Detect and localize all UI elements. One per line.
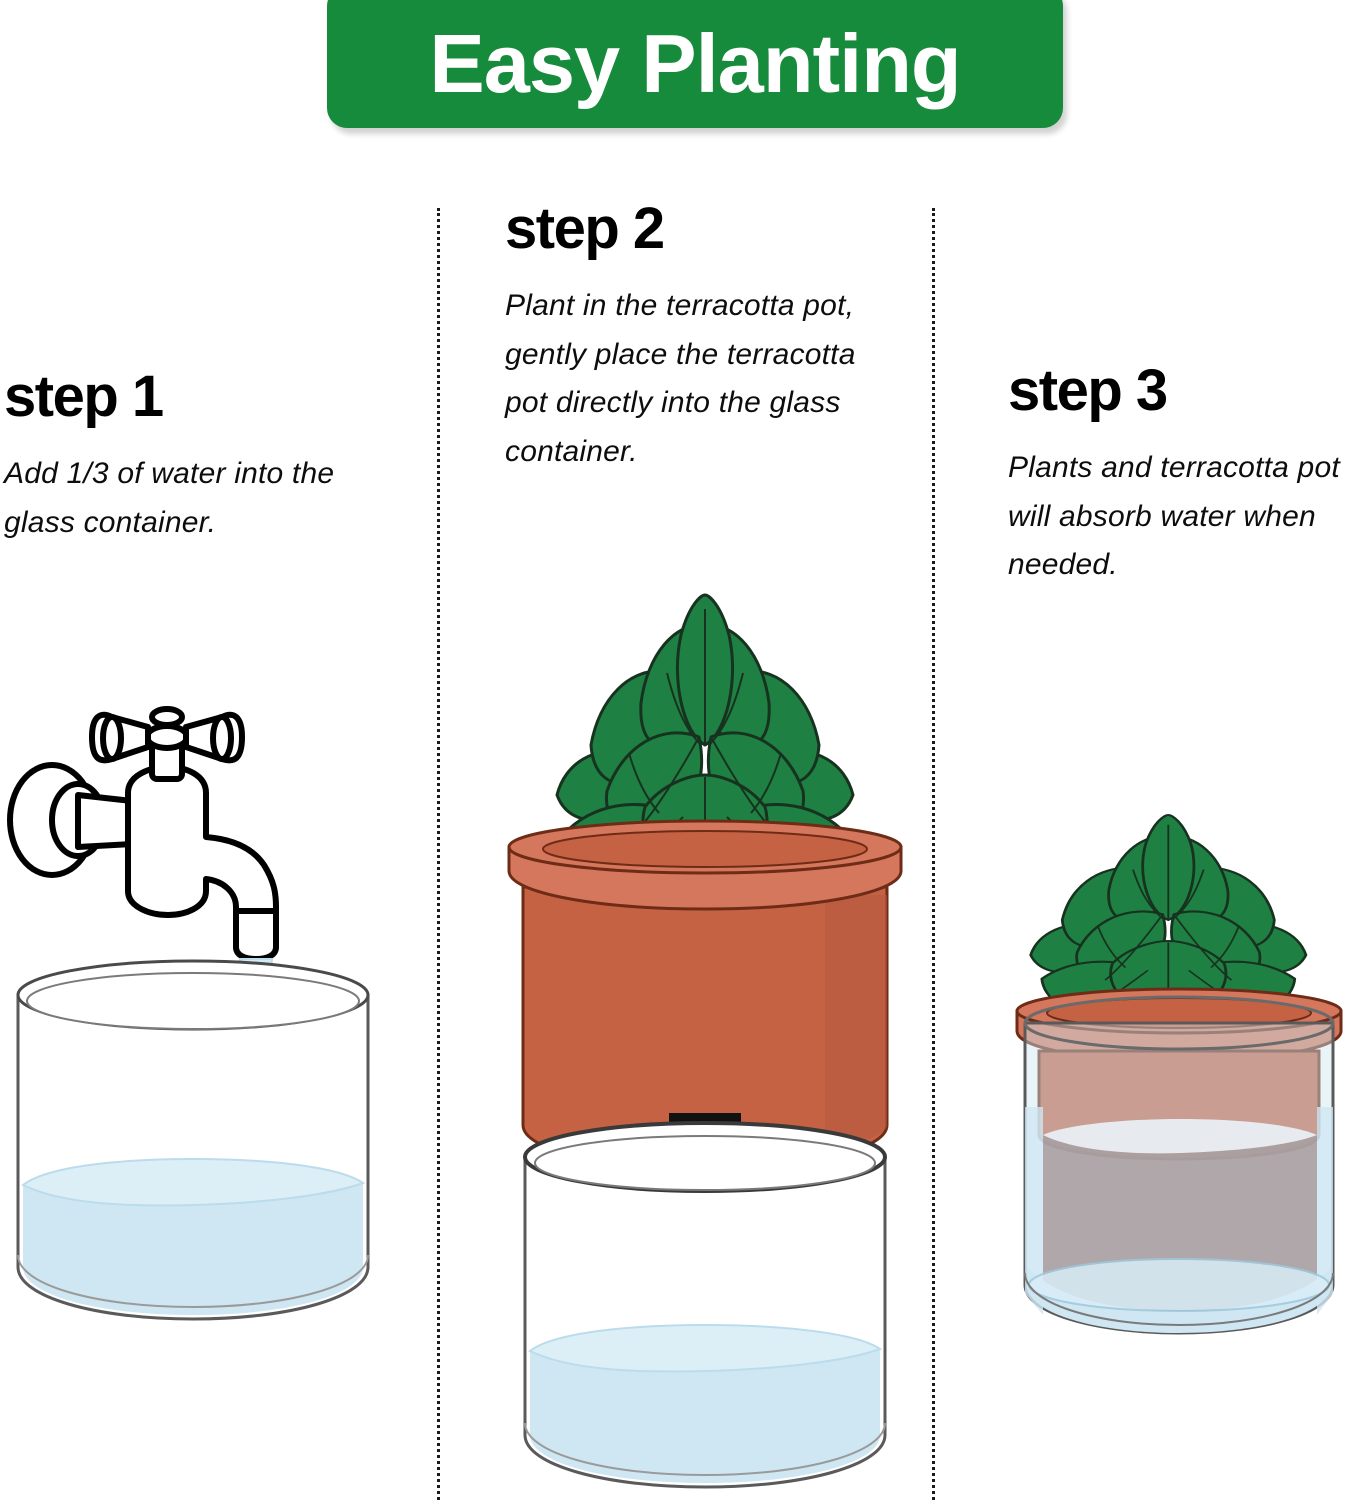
step-1-illustration [0, 715, 380, 1355]
faucet-icon [10, 709, 276, 959]
step-1-title: step 1 [4, 368, 374, 426]
step-2-text-block: step 2 Plant in the terracotta pot, gent… [505, 200, 865, 476]
step-3-illustration [995, 815, 1366, 1375]
step-1-text-block: step 1 Add 1/3 of water into the glass c… [4, 368, 374, 547]
step-3-description: Plants and terracotta pot will absorb wa… [1008, 444, 1366, 590]
page-title: Easy Planting [429, 22, 960, 105]
step-3-text-block: step 3 Plants and terracotta pot will ab… [1008, 362, 1366, 590]
glass-container-icon [525, 1123, 885, 1487]
glass-container-icon [1025, 997, 1333, 1333]
step-2-illustration [495, 595, 915, 1500]
step-2-title: step 2 [505, 200, 865, 258]
step-1-description: Add 1/3 of water into the glass containe… [4, 450, 374, 547]
step-3-title: step 3 [1008, 362, 1366, 420]
column-divider-1 [437, 208, 440, 1500]
title-banner: Easy Planting [327, 0, 1063, 128]
step-2-description: Plant in the terracotta pot, gently plac… [505, 282, 865, 476]
glass-container-icon [18, 961, 368, 1319]
infographic-canvas: Easy Planting step 1 Add 1/3 of water in… [0, 0, 1366, 1500]
column-divider-2 [932, 208, 935, 1500]
